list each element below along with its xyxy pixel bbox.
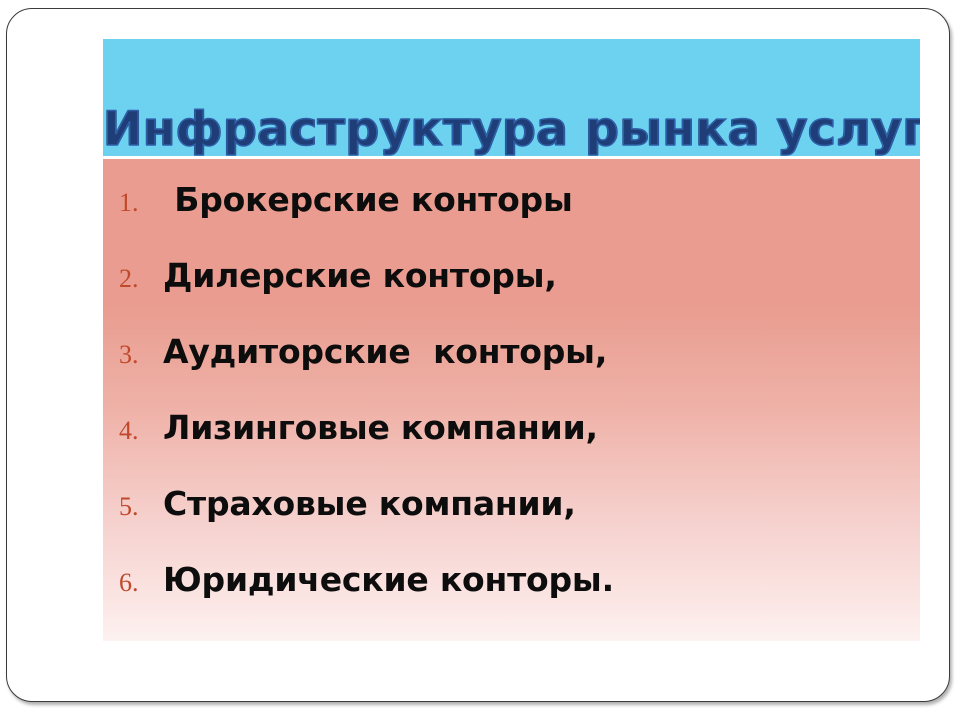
content-panel: 1. Брокерские конторы 2. Дилерские конто… [103, 159, 920, 641]
page-title: Инфраструктура рынка услуг [103, 106, 920, 153]
list-item[interactable]: 1. Брокерские конторы [103, 183, 920, 259]
list-item[interactable]: 4. Лизинговые компании, [103, 411, 920, 487]
list-item-number: 4. [119, 418, 163, 444]
list-item-number: 1. [119, 190, 163, 216]
list-item-label: Лизинговые компании, [163, 411, 598, 444]
list-item-number: 6. [119, 570, 163, 596]
list-item[interactable]: 3. Аудиторские конторы, [103, 335, 920, 411]
list-item-number: 5. [119, 494, 163, 520]
list-item-label: Дилерские конторы, [163, 259, 557, 292]
list-item-label: Юридические конторы. [163, 563, 614, 596]
list-item-label: Страховые компании, [163, 487, 576, 520]
numbered-list: 1. Брокерские конторы 2. Дилерские конто… [103, 183, 920, 639]
slide-frame: Инфраструктура рынка услуг 1. Брокерские… [6, 8, 950, 702]
title-bar: Инфраструктура рынка услуг [103, 39, 920, 156]
list-item-number: 2. [119, 266, 163, 292]
list-item[interactable]: 2. Дилерские конторы, [103, 259, 920, 335]
list-item-label: Аудиторские конторы, [163, 335, 607, 368]
list-item[interactable]: 6. Юридические конторы. [103, 563, 920, 639]
list-item-label: Брокерские конторы [163, 183, 573, 216]
list-item[interactable]: 5. Страховые компании, [103, 487, 920, 563]
list-item-number: 3. [119, 342, 163, 368]
